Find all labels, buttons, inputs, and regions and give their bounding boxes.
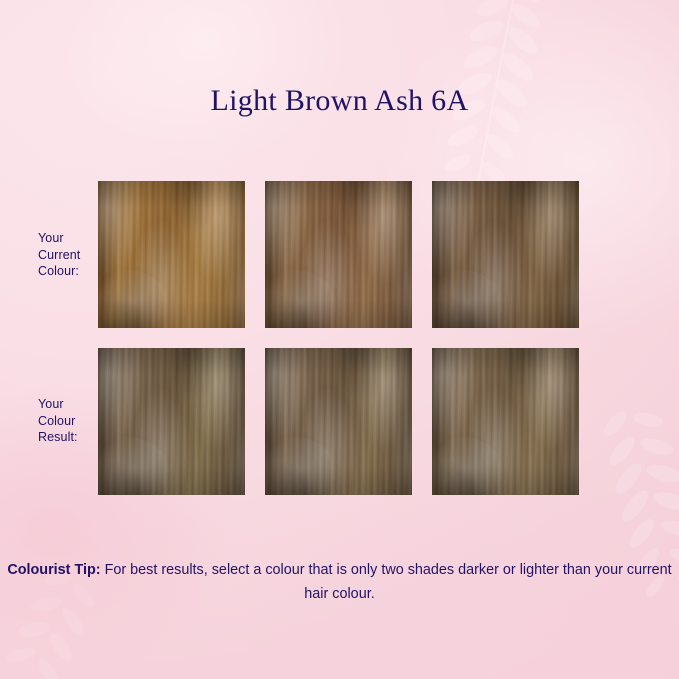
- result-colour-swatch-3: [432, 348, 579, 495]
- product-colour-chart: Light Brown Ash 6A Your Current Colour: …: [0, 0, 679, 679]
- swatch-vignette: [265, 348, 412, 495]
- label-line: Current: [38, 247, 80, 264]
- label-line: Your: [38, 396, 78, 413]
- page-title: Light Brown Ash 6A: [0, 84, 679, 118]
- result-colour-swatch-1: [98, 348, 245, 495]
- result-colour-swatch-2: [265, 348, 412, 495]
- label-line: Result:: [38, 429, 78, 446]
- swatch-vignette: [432, 348, 579, 495]
- current-colour-swatch-2: [265, 181, 412, 328]
- colourist-tip-body: For best results, select a colour that i…: [101, 562, 672, 602]
- result-colour-row: [98, 348, 580, 495]
- label-your-colour-result: Your Colour Result:: [38, 396, 78, 446]
- swatch-vignette: [432, 181, 579, 328]
- swatch-vignette: [98, 181, 245, 328]
- current-colour-swatch-1: [98, 181, 245, 328]
- label-line: Your: [38, 230, 80, 247]
- swatch-vignette: [98, 348, 245, 495]
- swatch-grid: [98, 181, 580, 495]
- label-line: Colour:: [38, 263, 80, 280]
- colourist-tip-heading: Colourist Tip:: [7, 562, 100, 578]
- colourist-tip: Colourist Tip: For best results, select …: [0, 558, 679, 606]
- label-line: Colour: [38, 413, 78, 430]
- label-your-current-colour: Your Current Colour:: [38, 230, 80, 280]
- current-colour-swatch-3: [432, 181, 579, 328]
- current-colour-row: [98, 181, 580, 328]
- swatch-vignette: [265, 181, 412, 328]
